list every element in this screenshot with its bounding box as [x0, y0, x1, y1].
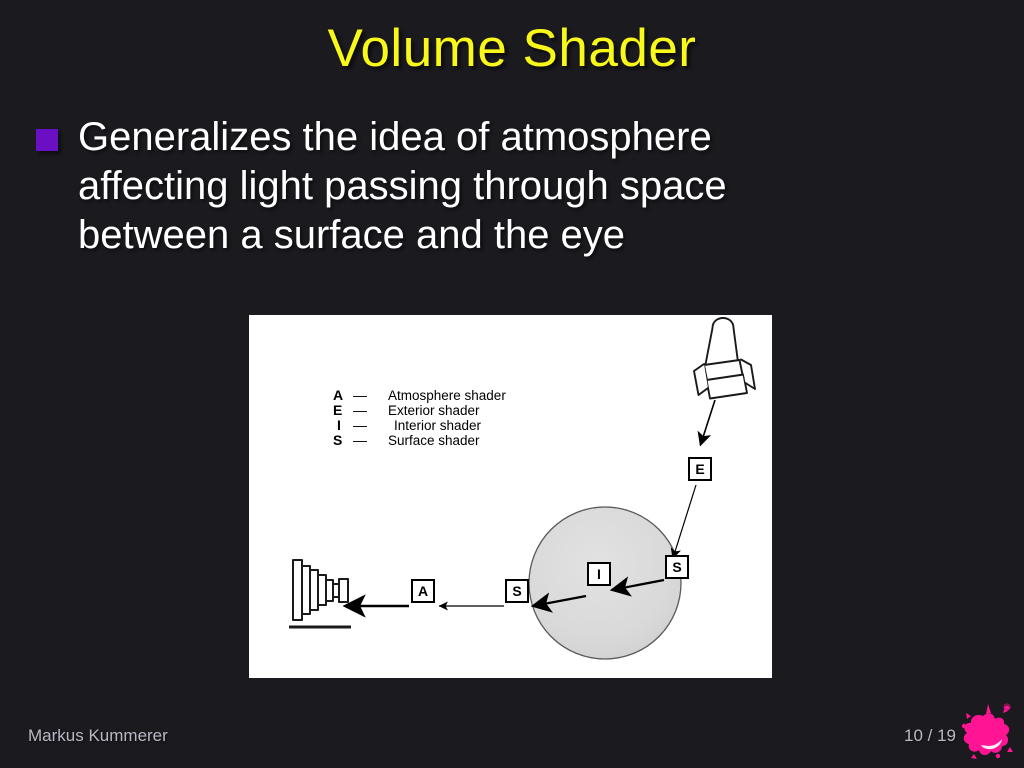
node-s-right: S	[666, 556, 688, 578]
legend-dash: —	[353, 432, 367, 448]
legend-label: Atmosphere shader	[388, 388, 506, 403]
legend-row-a: A — Atmosphere shader	[333, 387, 506, 403]
arrow-light-to-e	[701, 400, 716, 445]
legend-label: Exterior shader	[388, 403, 480, 418]
node-s-right-label: S	[672, 559, 681, 575]
legend-dash: —	[353, 387, 367, 403]
legend-symbol: E	[333, 402, 342, 418]
legend-symbol: A	[333, 387, 343, 403]
ink-splat-logo	[958, 702, 1014, 760]
legend-row-e: E — Exterior shader	[333, 402, 480, 418]
node-e-label: E	[695, 461, 704, 477]
legend-row-i: I — Interior shader	[337, 417, 482, 433]
node-i: I	[588, 563, 610, 585]
legend-label: Surface shader	[388, 433, 480, 448]
footer-author: Markus Kummerer	[28, 726, 168, 746]
page-title: Volume Shader	[0, 20, 1024, 78]
figure-legend: A — Atmosphere shader E — Exterior shade…	[333, 387, 506, 448]
arrow-e-to-s-right	[673, 485, 696, 558]
legend-label: Interior shader	[394, 418, 482, 433]
node-e: E	[689, 458, 711, 480]
node-s-left-label: S	[512, 583, 521, 599]
node-s-left: S	[506, 580, 528, 602]
footer-page-number: 10 / 19	[904, 726, 956, 746]
legend-dash: —	[353, 402, 367, 418]
legend-row-s: S — Surface shader	[333, 432, 480, 448]
legend-dash: —	[353, 417, 367, 433]
node-i-label: I	[597, 566, 601, 582]
bullet-item-text: Generalizes the idea of atmosphere affec…	[78, 113, 838, 260]
light-source-icon	[694, 318, 755, 399]
camera-icon	[289, 560, 351, 627]
bullet-list: Generalizes the idea of atmosphere affec…	[36, 113, 886, 260]
bullet-marker-square	[36, 129, 58, 151]
figure-volume-shader-diagram: A — Atmosphere shader E — Exterior shade…	[249, 315, 772, 678]
legend-symbol: S	[333, 432, 342, 448]
legend-symbol: I	[337, 417, 341, 433]
node-a: A	[412, 580, 434, 602]
node-a-label: A	[418, 583, 428, 599]
slide: Volume Shader Generalizes the idea of at…	[0, 0, 1024, 768]
